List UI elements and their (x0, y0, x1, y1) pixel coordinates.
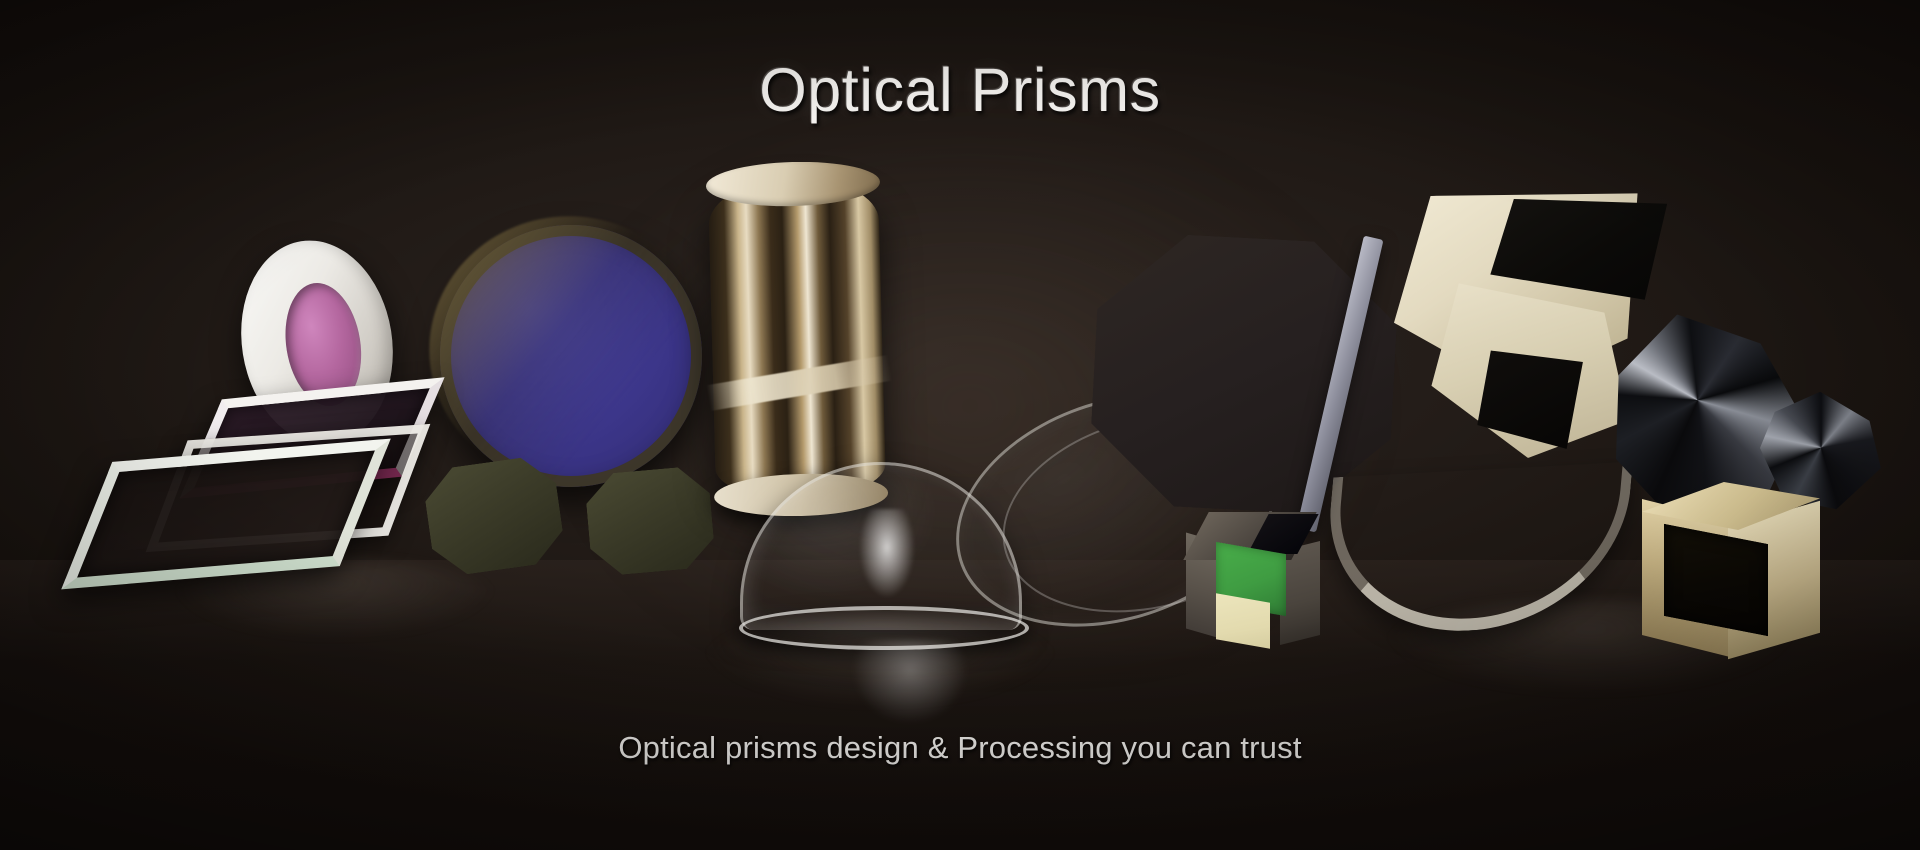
gold-cylinder-lens (708, 176, 886, 500)
gold-cube-prism (1642, 482, 1820, 646)
beamsplitter-cube (1186, 512, 1314, 644)
page-subtitle: Optical prisms design & Processing you c… (0, 730, 1920, 766)
cylinder-highlight (706, 355, 892, 411)
floor-sparkle (850, 640, 970, 726)
optical-prisms-banner: Optical Prisms Optical prisms design & P… (0, 0, 1920, 850)
page-title: Optical Prisms (0, 55, 1920, 125)
dome-sparkle (855, 509, 919, 605)
beamsplitter-cream-face (1216, 593, 1270, 649)
